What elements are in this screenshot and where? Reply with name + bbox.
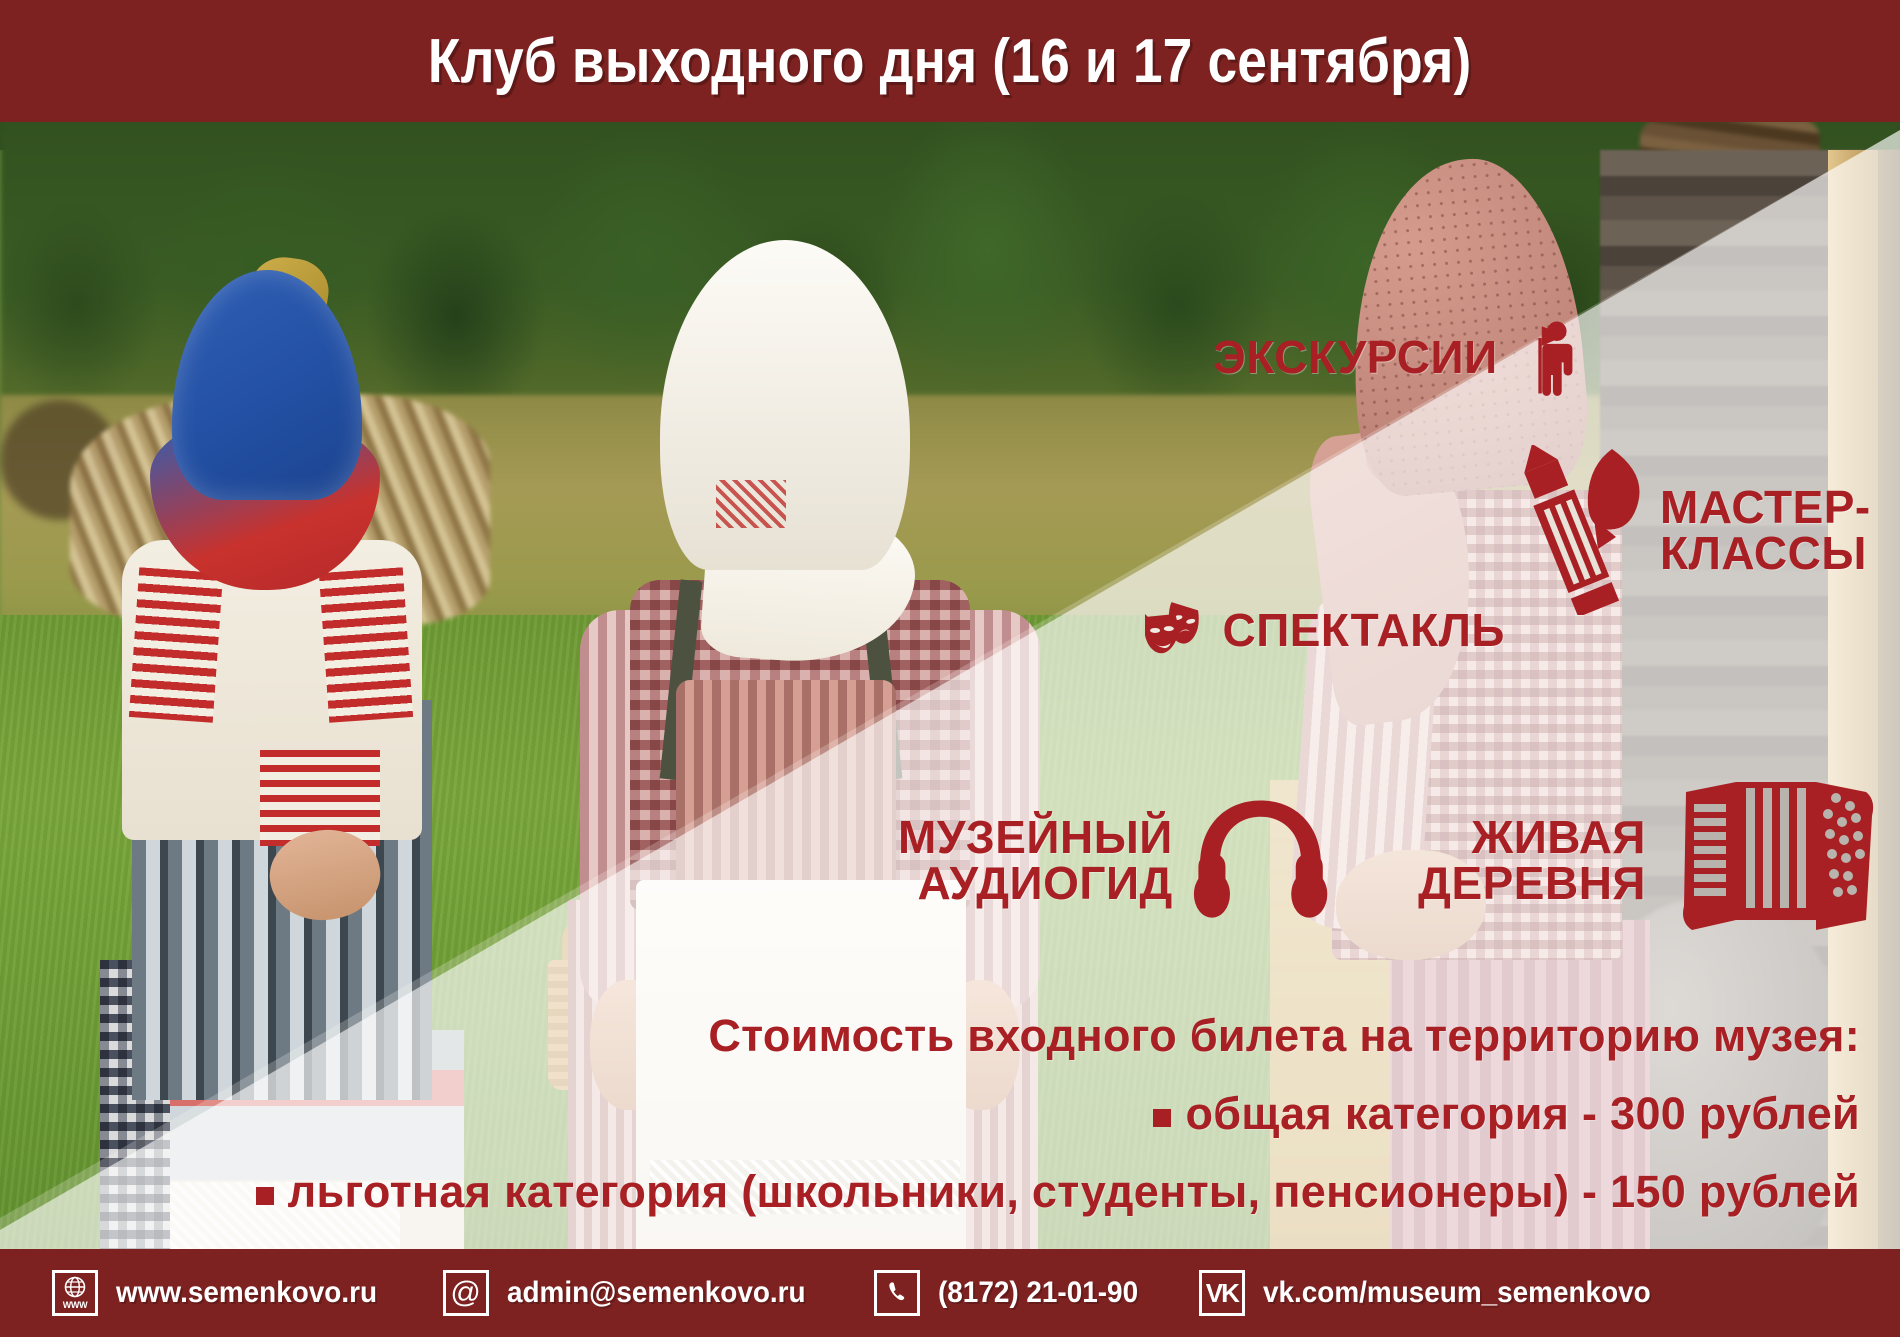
phone-glyph (884, 1280, 910, 1306)
footer-phone-text: (8172) 21-01-90 (938, 1276, 1138, 1310)
feature-masterclass: МАСТЕР- КЛАССЫ (1520, 440, 1900, 620)
vk-icon: VK (1199, 1270, 1245, 1316)
feature-audioguide: МУЗЕЙНЫЙ АУДИОГИД (898, 780, 1328, 940)
footer-phone[interactable]: (8172) 21-01-90 (874, 1270, 1153, 1316)
bullet-square-icon (1153, 1109, 1171, 1127)
feature-performance: СПЕКТАКЛЬ (1145, 560, 1505, 700)
at-icon-glyph: @ (450, 1276, 480, 1310)
feature-excursions: ЭКСКУРСИИ (1213, 282, 1573, 432)
poster-root: Клуб выходного дня (16 и 17 сентября) ЭК… (0, 0, 1900, 1337)
at-icon: @ (443, 1270, 489, 1316)
feature-livevillage: ЖИВАЯ ДЕРЕВНЯ (1380, 770, 1880, 950)
footer-vk-text: vk.com/museum_semenkovo (1263, 1276, 1651, 1310)
vk-icon-glyph: VK (1206, 1278, 1238, 1309)
footer-vk[interactable]: VK vk.com/museum_semenkovo (1199, 1270, 1680, 1316)
bullet-square-icon (256, 1187, 274, 1205)
feature-audioguide-label-line2: АУДИОГИД (898, 860, 1173, 906)
feature-masterclass-label-line1: МАСТЕР- (1660, 484, 1871, 530)
guide-with-flag-icon (1516, 282, 1573, 432)
pricing-title: Стоимость входного билета на территорию … (708, 1010, 1860, 1062)
woman-center-embroidery (716, 480, 786, 528)
woman-left-trim-a (129, 567, 223, 722)
feature-audioguide-label: МУЗЕЙНЫЙ АУДИОГИД (898, 814, 1173, 906)
feature-masterclass-label-line2: КЛАССЫ (1660, 530, 1871, 576)
globe-icon-text: WWW (63, 1301, 88, 1310)
footer-email[interactable]: @ admin@semenkovo.ru (443, 1270, 828, 1316)
pencil-icon (1520, 445, 1646, 615)
footer-email-text: admin@semenkovo.ru (507, 1276, 806, 1310)
feature-livevillage-label: ЖИВАЯ ДЕРЕВНЯ (1380, 814, 1646, 906)
headphones-icon (1193, 790, 1328, 930)
phone-icon (874, 1270, 920, 1316)
feature-livevillage-label-line2: ДЕРЕВНЯ (1380, 860, 1646, 906)
page-title: Клуб выходного дня (16 и 17 сентября) (428, 26, 1471, 97)
woman-left-trim-b (319, 567, 413, 722)
footer-website-text: www.semenkovo.ru (116, 1276, 377, 1310)
feature-performance-label: СПЕКТАКЛЬ (1222, 607, 1505, 653)
pricing-line-general: общая категория - 300 рублей (1153, 1088, 1860, 1140)
feature-audioguide-label-line1: МУЗЕЙНЫЙ (898, 814, 1173, 860)
theatre-masks-icon (1145, 565, 1204, 695)
globe-icon: WWW (52, 1270, 98, 1316)
feature-masterclass-label: МАСТЕР- КЛАССЫ (1660, 484, 1871, 576)
header-bar: Клуб выходного дня (16 и 17 сентября) (0, 0, 1900, 122)
footer-website[interactable]: WWW www.semenkovo.ru (52, 1270, 397, 1316)
feature-livevillage-label-line1: ЖИВАЯ (1380, 814, 1646, 860)
pricing-line-reduced-text: льготная категория (школьники, студенты,… (288, 1166, 1860, 1217)
footer-bar: WWW www.semenkovo.ru @ admin@semenkovo.r… (0, 1249, 1900, 1337)
globe-glyph (63, 1276, 87, 1300)
woman-left-headscarf (172, 270, 362, 500)
feature-excursions-label: ЭКСКУРСИИ (1213, 334, 1498, 380)
accordion-icon (1670, 780, 1880, 940)
pricing-line-reduced: льготная категория (школьники, студенты,… (256, 1166, 1860, 1218)
pricing-line-general-text: общая категория - 300 рублей (1185, 1088, 1860, 1139)
